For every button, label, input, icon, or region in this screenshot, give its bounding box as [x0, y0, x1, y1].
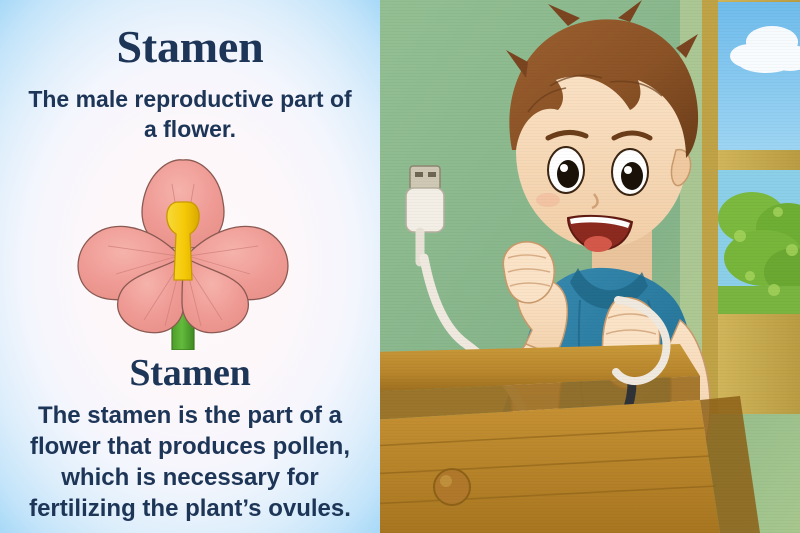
page-title-top: Stamen: [0, 22, 380, 72]
page-title-bottom: Stamen: [0, 352, 380, 394]
dictionary-card-page: Stamen The male reproductive part of a f…: [0, 0, 800, 533]
definition-panel-inner: Stamen The male reproductive part of a f…: [0, 0, 380, 533]
drawer-front: [380, 400, 720, 533]
usb-metal-tip: [410, 166, 440, 190]
definition-long: The stamen is the part of a flower that …: [0, 400, 380, 524]
definition-short: The male reproductive part of a flower.: [0, 84, 380, 144]
usb-connector-body: [406, 188, 444, 232]
flower-illustration: [60, 150, 320, 350]
photo-illustration-panel: [380, 0, 800, 533]
tree-foliage: [718, 192, 800, 320]
window-jamb: [702, 0, 718, 414]
window-pane-sky: [718, 2, 800, 152]
drawer-knob: [434, 469, 470, 505]
cheek: [536, 193, 560, 207]
window: [702, 0, 800, 414]
definition-panel: Stamen The male reproductive part of a f…: [0, 0, 380, 533]
hand-left: [503, 242, 554, 303]
